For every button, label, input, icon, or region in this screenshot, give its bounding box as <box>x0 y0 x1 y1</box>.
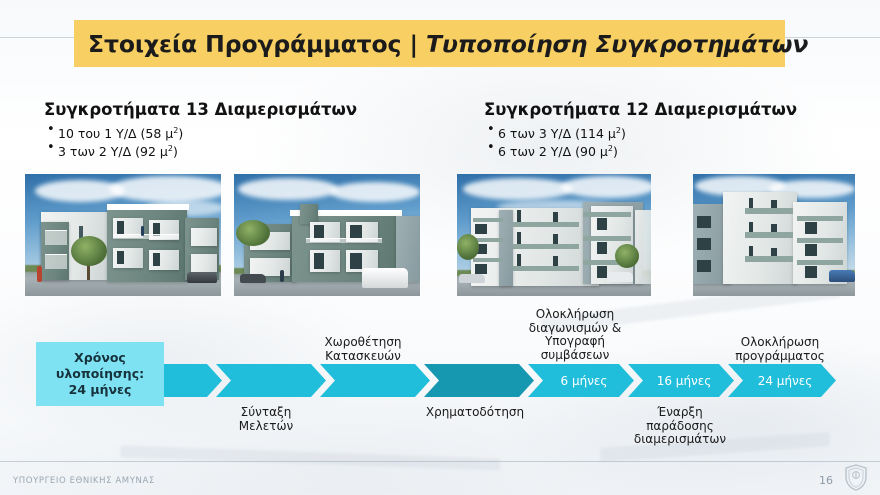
time-box-line3: 24 μήνες <box>69 382 132 398</box>
balcony-rail <box>113 234 179 239</box>
photo-12apt-render-a <box>457 174 651 296</box>
window <box>697 238 711 250</box>
tree <box>71 236 107 266</box>
window <box>749 246 753 256</box>
figure <box>141 226 144 236</box>
list-item: 10 του 1 Υ/Δ (58 μ2) <box>58 123 464 141</box>
window <box>553 256 558 266</box>
photo-13apt-render-a <box>25 174 221 296</box>
list-item: 3 των 2 Υ/Δ (92 μ2) <box>58 141 464 159</box>
timeline-step-6[interactable]: 16 μήνες <box>628 364 734 397</box>
bullet-text: 6 των 2 Υ/Δ (90 μ <box>498 144 608 159</box>
balcony-slab <box>473 218 503 222</box>
footer-organization: ΥΠΟΥΡΓΕΙΟ ΕΘΝΙΚΗΣ ΑΜΥΝΑΣ <box>13 476 155 486</box>
balcony-slab <box>797 260 843 265</box>
roof-edge <box>107 204 189 210</box>
building-background <box>635 210 651 284</box>
window <box>314 253 324 269</box>
section-12-apartments: Συγκροτήματα 12 Διαμερισμάτων 6 των 3 Υ/… <box>484 100 880 159</box>
bullet-list: 10 του 1 Υ/Δ (58 μ2) 3 των 2 Υ/Δ (92 μ2) <box>44 123 464 159</box>
timeline-caption-3: Χωροθέτηση Κατασκευών <box>295 336 431 363</box>
section-heading: Συγκροτήματα 13 Διαμερισμάτων <box>44 100 464 119</box>
car <box>187 272 217 283</box>
bullet-tail: ) <box>621 126 626 141</box>
building-main <box>723 192 797 284</box>
tree <box>236 220 270 246</box>
balcony-slab <box>583 212 631 217</box>
bullet-list: 6 των 3 Υ/Δ (114 μ2) 6 των 2 Υ/Δ (90 μ2) <box>484 123 880 159</box>
section-heading: Συγκροτήματα 12 Διαμερισμάτων <box>484 100 880 119</box>
balcony-slab <box>513 222 579 227</box>
balcony-slab <box>745 232 793 238</box>
implementation-time-box: Χρόνος υλοποίησης: 24 μήνες <box>36 342 164 406</box>
window <box>805 222 817 234</box>
window <box>117 221 124 234</box>
timeline-caption-5: Ολοκλήρωση διαγωνισμών & Υπογραφή συμβάσ… <box>495 308 655 362</box>
window <box>350 225 362 239</box>
cloud <box>238 178 338 200</box>
cloud <box>109 176 221 202</box>
page-title: Στοιχεία Προγράμματος | Τυποποίηση Συγκρ… <box>88 30 808 58</box>
timeline-step-3[interactable] <box>320 364 430 397</box>
timeline-step-2[interactable] <box>216 364 326 397</box>
person <box>37 266 42 282</box>
car <box>829 270 855 282</box>
page-title-main: Στοιχεία Προγράμματος | <box>88 30 426 58</box>
window <box>771 200 777 208</box>
window <box>314 225 324 239</box>
balcony-slab <box>797 238 843 243</box>
timeline-step-7[interactable]: 24 μήνες <box>728 364 836 397</box>
slide-title-banner: Στοιχεία Προγράμματος | Τυποποίηση Συγκρ… <box>74 20 785 67</box>
window <box>475 224 487 234</box>
timeline-step-1[interactable] <box>164 364 222 397</box>
window <box>517 210 521 222</box>
window <box>805 244 817 256</box>
stair-tower <box>300 204 318 224</box>
tree <box>457 234 479 260</box>
timeline-caption-7: Ολοκλήρωση προγράμματος <box>700 336 860 363</box>
window <box>749 222 753 232</box>
timeline-step-label: 16 μήνες <box>651 374 712 388</box>
window <box>805 266 817 278</box>
window <box>597 266 607 278</box>
window <box>153 253 160 266</box>
car <box>362 268 408 288</box>
balcony <box>45 230 67 245</box>
cloud <box>330 182 420 202</box>
window <box>771 248 777 256</box>
list-item: 6 των 3 Υ/Δ (114 μ2) <box>498 123 880 141</box>
page-number: 16 <box>819 474 833 487</box>
window <box>597 242 607 254</box>
window <box>350 253 362 269</box>
presentation-slide: Στοιχεία Προγράμματος | Τυποποίηση Συγκρ… <box>0 0 880 495</box>
time-box-line1: Χρόνος <box>74 350 126 366</box>
car <box>459 274 485 283</box>
page-title-emphasis: Τυποποίηση Συγκροτημάτων <box>426 30 808 58</box>
window <box>475 264 487 274</box>
cloud <box>463 178 573 200</box>
balcony <box>45 254 67 269</box>
bullet-text: 3 των 2 Υ/Δ (92 μ <box>58 144 168 159</box>
balcony-slab <box>745 256 793 262</box>
window <box>517 254 521 266</box>
cyclist <box>280 270 284 282</box>
section-13-apartments: Συγκροτήματα 13 Διαμερισμάτων 10 του 1 Υ… <box>44 100 464 159</box>
window <box>697 216 711 228</box>
balcony-rail <box>306 238 382 243</box>
cloud <box>561 176 651 198</box>
timeline-step-5[interactable]: 6 μήνες <box>528 364 634 397</box>
timeline-caption-4: Χρηματοδότηση <box>395 406 555 420</box>
balcony-recess <box>191 254 217 272</box>
bullet-text: 10 του 1 Υ/Δ (58 μ <box>58 126 173 141</box>
photo-13apt-render-b <box>234 174 420 296</box>
timeline-step-label: 24 μήνες <box>752 374 813 388</box>
window <box>749 198 753 208</box>
balcony-slab <box>513 244 579 249</box>
balcony-slab <box>473 258 503 262</box>
window <box>117 251 124 264</box>
timeline-caption-6: Έναρξη παράδοσης διαμερισμάτων <box>600 406 760 447</box>
balcony-slab <box>513 266 579 271</box>
photo-12apt-render-b <box>693 174 855 296</box>
list-item: 6 των 2 Υ/Δ (90 μ2) <box>498 141 880 159</box>
bullet-text: 6 των 3 Υ/Δ (114 μ <box>498 126 616 141</box>
tree <box>615 244 639 268</box>
timeline-step-label: 6 μήνες <box>555 374 608 388</box>
bullet-tail: ) <box>178 126 183 141</box>
window <box>697 260 711 272</box>
balcony-slab <box>583 236 631 241</box>
balcony-slab <box>797 216 843 221</box>
window <box>771 224 777 232</box>
timeline-step-4[interactable] <box>424 364 534 397</box>
implementation-timeline: Χρόνος υλοποίησης: 24 μήνες 6 μήνες 16 μ… <box>0 300 880 465</box>
window <box>553 234 558 244</box>
window <box>553 212 558 222</box>
bullet-tail: ) <box>613 144 618 159</box>
time-box-line2: υλοποίησης: <box>56 366 144 382</box>
balcony-recess <box>191 228 217 246</box>
shield-emblem-icon <box>844 464 868 491</box>
bullet-tail: ) <box>173 144 178 159</box>
car <box>240 274 266 283</box>
window <box>597 218 607 230</box>
window <box>517 232 521 244</box>
balcony-slab <box>745 208 793 214</box>
timeline-caption-2: Σύνταξη Μελετών <box>198 406 334 433</box>
car <box>607 272 633 282</box>
